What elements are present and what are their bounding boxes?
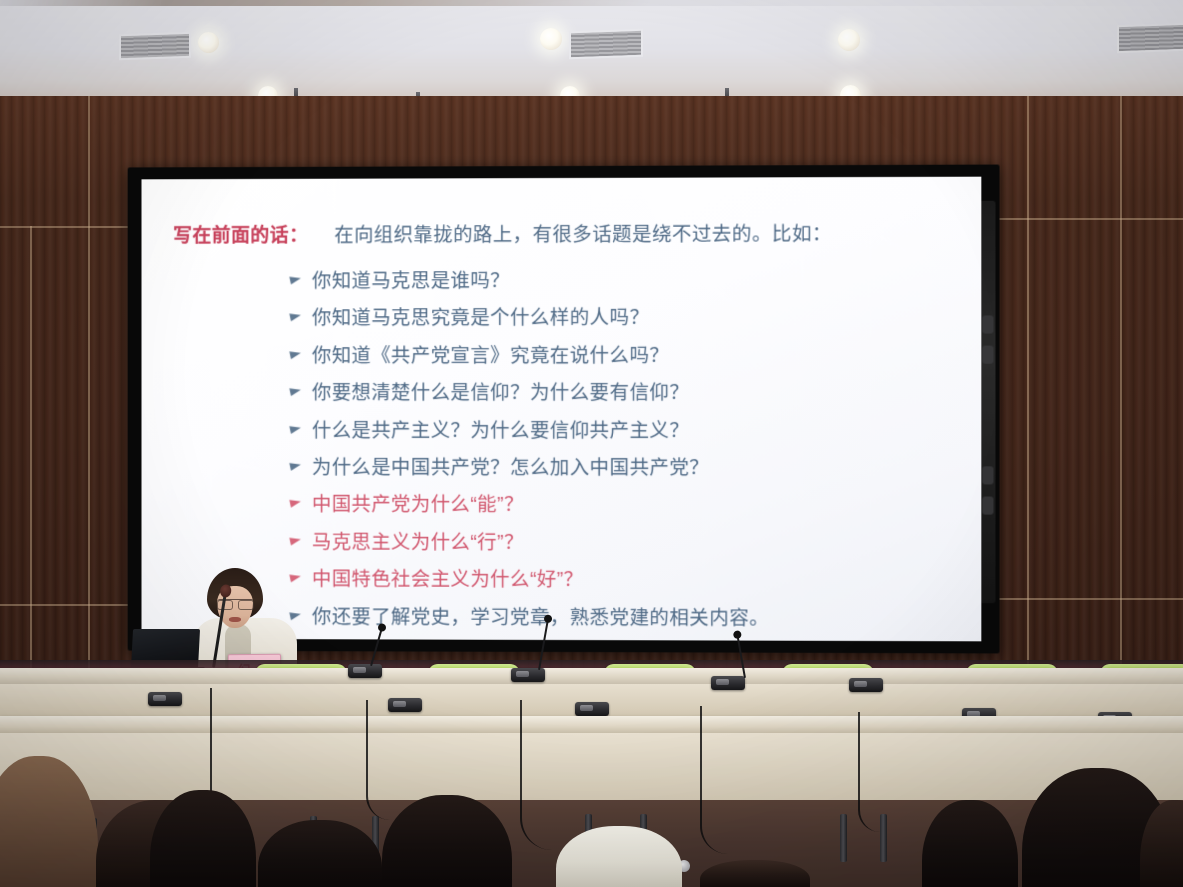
wall-seam <box>88 96 90 676</box>
wall-seam <box>30 226 32 676</box>
ceiling-downlight <box>838 29 860 51</box>
wall-seam <box>0 226 140 228</box>
microphone-cable <box>858 712 880 832</box>
slide-bullet-item-highlight: 马克思主义为什么“行”？ <box>312 524 947 563</box>
arrow-bullet-icon <box>289 498 301 508</box>
slide-lead-text: 在向组织靠拢的路上，有很多话题是绕不过去的。比如： <box>334 217 832 247</box>
slide-bullet-item-highlight: 中国共产党为什么“能”？ <box>312 487 947 525</box>
bullet-text: 你知道马克思究竟是个什么样的人吗？ <box>312 307 650 329</box>
desk-microphone <box>711 676 745 690</box>
bullet-text: 中国特色社会主义为什么“好”？ <box>312 569 584 592</box>
ceiling-air-vent <box>119 32 191 61</box>
wall-seam <box>988 598 1183 600</box>
presenter-mouth <box>229 617 241 622</box>
wall-seam <box>990 218 1183 220</box>
front-desk-top <box>0 668 1183 684</box>
slide-bullet-item: 你知道《共产党宣言》究竟在说什么吗？ <box>312 337 947 375</box>
audience-head <box>700 860 810 887</box>
arrow-bullet-icon <box>289 424 301 434</box>
speaker-vent <box>982 315 993 333</box>
desk-microphone <box>511 668 545 682</box>
speaker-vent <box>982 497 993 515</box>
second-row-desk-top <box>0 716 1183 734</box>
bullet-text: 马克思主义为什么“行”？ <box>312 531 524 553</box>
slide-bullet-item: 为什么是中国共产党？怎么加入中国共产党？ <box>312 450 947 488</box>
slide-bullet-item: 你知道马克思究竟是个什么样的人吗？ <box>312 300 947 338</box>
desk-microphone <box>849 678 883 692</box>
slide-bullet-item: 你知道马克思是谁吗？ <box>312 262 947 301</box>
desk-microphone <box>388 698 422 712</box>
speaker-vent <box>982 466 993 484</box>
microphone-cable <box>366 700 390 820</box>
microphone-cable <box>520 700 552 850</box>
ceiling-downlight <box>198 32 219 53</box>
bullet-text: 中国共产党为什么“能”？ <box>312 494 524 516</box>
bullet-text: 你知道马克思是谁吗？ <box>312 270 510 292</box>
wall-seam <box>1120 96 1122 676</box>
lecture-hall-photo: 写在前面的话： 在向组织靠拢的路上，有很多话题是绕不过去的。比如： 你知道马克思… <box>0 0 1183 887</box>
arrow-bullet-icon <box>289 535 301 545</box>
bullet-text: 为什么是中国共产党？怎么加入中国共产党？ <box>312 457 709 479</box>
arrow-bullet-icon <box>289 386 301 396</box>
arrow-bullet-icon <box>289 461 301 471</box>
arrow-bullet-icon <box>289 274 301 284</box>
desk-microphone <box>575 702 609 716</box>
slide-bullet-item-highlight: 中国特色社会主义为什么“好”？ <box>312 562 947 601</box>
slide-header: 写在前面的话： 在向组织靠拢的路上，有很多话题是绕不过去的。比如： <box>173 217 947 248</box>
slide-bullet-item: 你还要了解党史，学习党章，熟悉党建的相关内容。 <box>312 599 947 638</box>
ceiling <box>0 0 1183 108</box>
microphone-cable <box>700 706 728 854</box>
screen-side-speaker <box>979 201 995 603</box>
speaker-vent <box>982 346 993 364</box>
bullet-text: 你要想清楚什么是信仰？为什么要有信仰？ <box>312 382 689 404</box>
ceiling-air-vent <box>1117 23 1183 53</box>
arrow-bullet-icon <box>289 312 301 322</box>
wall-seam <box>0 604 130 606</box>
ceiling-downlight <box>540 28 562 50</box>
slide-title: 写在前面的话： <box>173 221 308 248</box>
desk-leg <box>840 814 847 862</box>
desk-leg <box>880 814 887 862</box>
wall-seam <box>1027 96 1029 676</box>
slide-bullet-item: 什么是共产主义？为什么要信仰共产主义？ <box>312 413 947 451</box>
desk-microphone <box>148 692 182 706</box>
bullet-text: 什么是共产主义？为什么要信仰共产主义？ <box>312 420 689 442</box>
arrow-bullet-icon <box>289 349 301 359</box>
bullet-text: 你知道《共产党宣言》究竟在说什么吗？ <box>312 345 669 367</box>
slide-bullet-item: 你要想清楚什么是信仰？为什么要有信仰？ <box>312 375 947 413</box>
ceiling-air-vent <box>569 29 643 60</box>
desk-microphone <box>348 664 382 678</box>
